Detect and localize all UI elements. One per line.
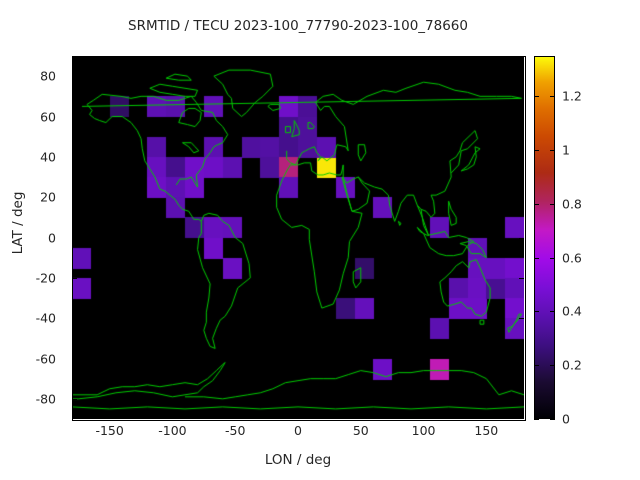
y-tick-mark [72,278,77,279]
colorbar-tick-mark [534,258,539,259]
x-tick-mark [110,56,111,61]
colorbar-tick-label: 0.6 [562,250,582,265]
colorbar-tick-mark [550,96,555,97]
colorbar-tick-label: 0.2 [562,358,582,373]
x-tick-mark [486,414,487,419]
chart-root: SRMTID / TECU 2023-100_77790-2023-100_78… [0,0,640,480]
y-tick-mark [519,318,524,319]
y-axis-label: LAT / deg [10,158,26,288]
y-tick-mark [72,359,77,360]
colorbar-tick-mark [550,150,555,151]
y-tick-mark [519,278,524,279]
y-tick-mark [519,197,524,198]
colorbar-tick-mark [550,258,555,259]
y-tick-mark [72,76,77,77]
x-tick-mark [486,56,487,61]
chart-title: SRMTID / TECU 2023-100_77790-2023-100_78… [0,18,596,34]
x-tick-mark [298,56,299,61]
x-tick-mark [235,56,236,61]
y-tick-mark [519,157,524,158]
x-tick-label: -150 [95,423,123,438]
map-heatmap-plot-area [72,56,524,419]
x-tick-mark [424,56,425,61]
x-tick-mark [172,414,173,419]
y-tick-label: 60 [40,109,56,124]
y-tick-label: -20 [36,270,56,285]
x-axis-label: LON / deg [72,452,524,468]
y-tick-mark [72,197,77,198]
y-tick-label: 20 [40,190,56,205]
y-tick-mark [72,238,77,239]
y-tick-mark [72,157,77,158]
x-tick-mark [172,56,173,61]
x-tick-label: 100 [412,423,436,438]
colorbar-tick-mark [534,204,539,205]
y-tick-label: 0 [48,230,56,245]
x-tick-mark [110,414,111,419]
colorbar-tick-mark [550,419,555,420]
x-tick-label: 50 [353,423,369,438]
y-tick-mark [72,117,77,118]
x-tick-mark [424,414,425,419]
y-tick-mark [519,399,524,400]
y-tick-mark [519,117,524,118]
x-tick-mark [361,56,362,61]
colorbar-tick-mark [550,204,555,205]
colorbar-tick-label: 1 [562,143,570,158]
x-tick-label: 150 [474,423,498,438]
colorbar-tick-mark [550,365,555,366]
colorbar-tick-label: 0.8 [562,196,582,211]
colorbar-tick-mark [550,311,555,312]
y-tick-label: 40 [40,149,56,164]
colorbar-tick-mark [534,150,539,151]
colorbar-tick-mark [534,419,539,420]
colorbar-tick-label: 1.2 [562,89,582,104]
y-tick-mark [519,76,524,77]
y-tick-label: -40 [36,311,56,326]
x-tick-label: -100 [158,423,186,438]
y-tick-mark [72,399,77,400]
x-tick-mark [235,414,236,419]
x-tick-label: 0 [294,423,302,438]
y-tick-label: 80 [40,69,56,84]
colorbar-tick-label: 0.4 [562,304,582,319]
colorbar-tick-mark [534,365,539,366]
y-tick-label: -80 [36,391,56,406]
x-tick-mark [361,414,362,419]
y-tick-mark [72,318,77,319]
coastline-layer [72,56,524,419]
x-tick-mark [298,414,299,419]
colorbar-tick-label: 0 [562,412,570,427]
colorbar-tick-mark [534,96,539,97]
y-tick-label: -60 [36,351,56,366]
y-tick-mark [519,359,524,360]
colorbar-gradient [535,57,554,418]
colorbar-tick-mark [534,311,539,312]
x-tick-label: -50 [225,423,245,438]
y-tick-mark [519,238,524,239]
